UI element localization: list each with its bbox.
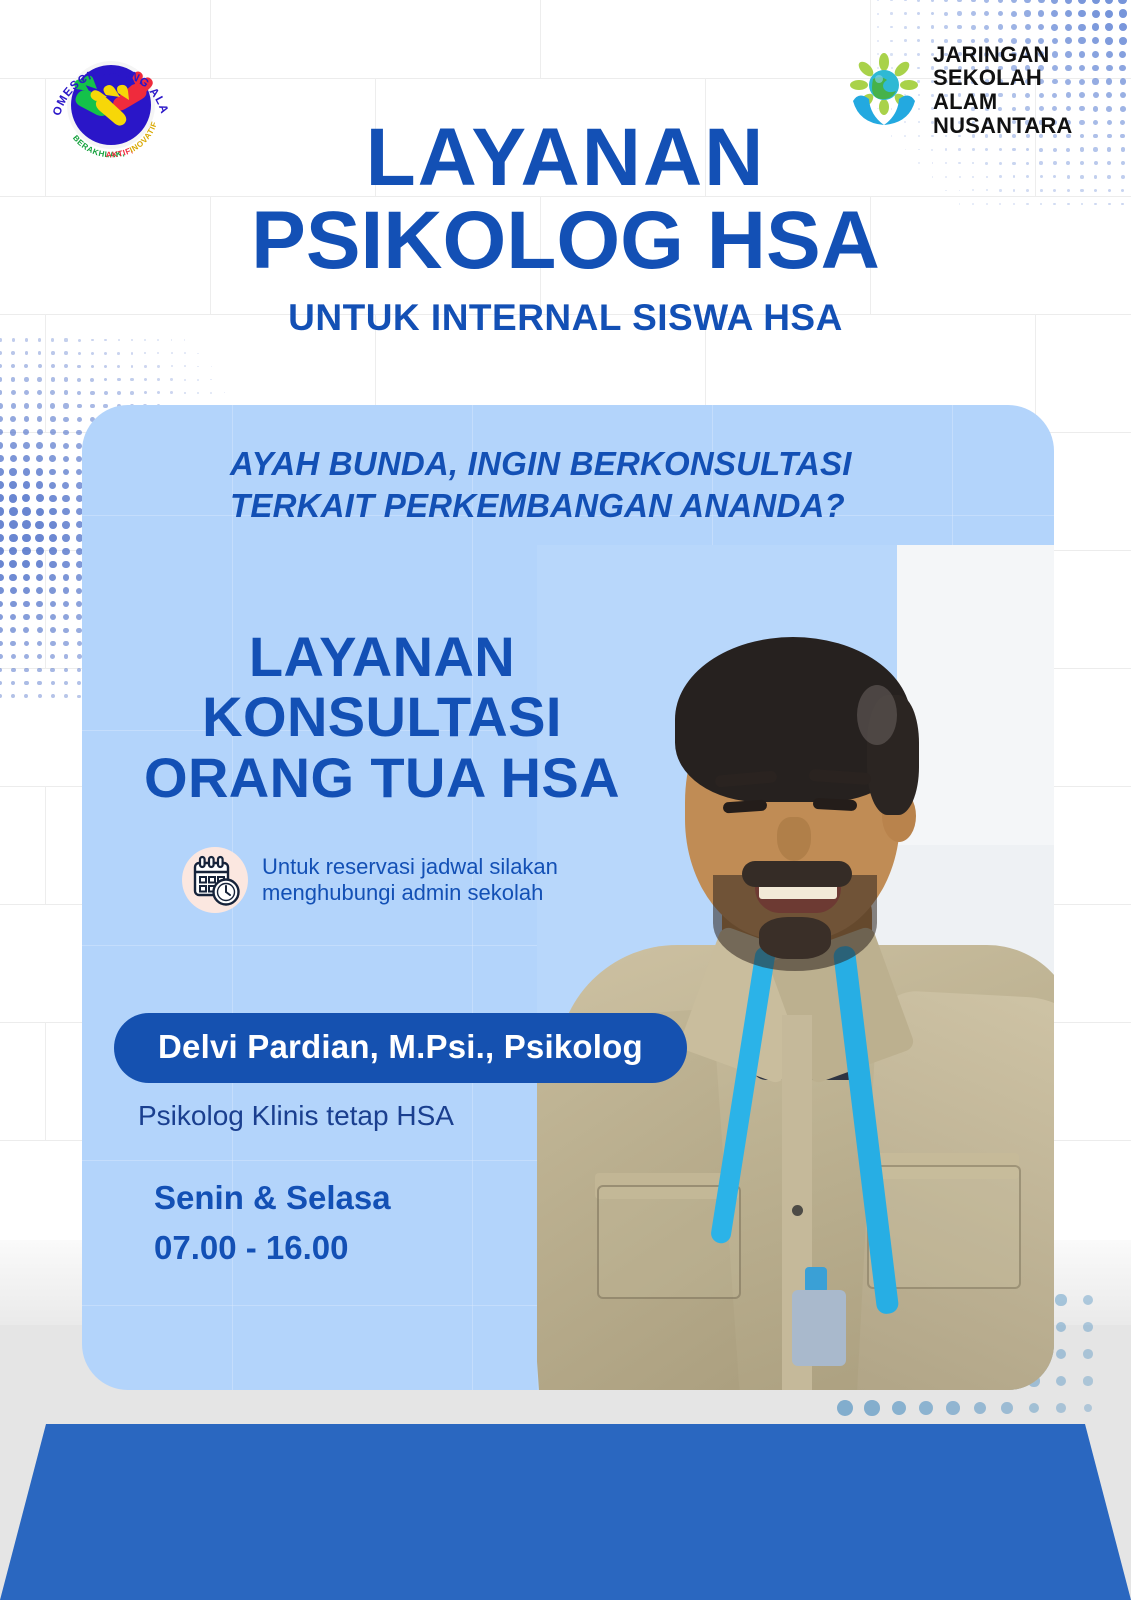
photo-nose [777, 817, 811, 861]
reservation-note-text: Untuk reservasi jadwal silakan menghubun… [262, 854, 558, 907]
photo-mouth [755, 883, 841, 913]
service-heading: LAYANAN KONSULTASI ORANG TUA HSA [102, 627, 662, 808]
service-line-3: ORANG TUA HSA [102, 748, 662, 808]
psychologist-name-badge: Delvi Pardian, M.Psi., Psikolog [114, 1013, 687, 1083]
title-line-2: PSIKOLOG HSA [0, 198, 1131, 285]
jsan-line-2: SEKOLAH ALAM [933, 66, 1090, 114]
question-line-2: TERKAIT PERKEMBANGAN ANANDA? [230, 485, 930, 527]
question-line-1: AYAH BUNDA, INGIN BERKONSULTASI [230, 443, 930, 485]
photo-moustache [742, 861, 852, 887]
schedule-days: Senin & Selasa [154, 1173, 391, 1223]
service-line-2: KONSULTASI [102, 687, 662, 747]
footer-content: Informasi Pendaftaran : 0812-9148-5332/0… [0, 1424, 1131, 1600]
photo-button-1 [792, 1205, 803, 1216]
poster-header: LAYANAN PSIKOLOG HSA UNTUK INTERNAL SISW… [0, 118, 1131, 339]
schedule-hours: 07.00 - 16.00 [154, 1223, 391, 1273]
note-line-2: menghubungi admin sekolah [262, 880, 558, 906]
photo-eye-right [813, 798, 858, 811]
note-line-1: Untuk reservasi jadwal silakan [262, 854, 558, 880]
photo-hair-gray [857, 685, 897, 745]
calendar-clock-icon [182, 847, 248, 913]
service-line-1: LAYANAN [102, 627, 662, 687]
question-text: AYAH BUNDA, INGIN BERKONSULTASI TERKAIT … [230, 443, 930, 526]
jsan-line-1: JARINGAN [933, 43, 1090, 67]
photo-id-card [792, 1290, 846, 1366]
title-line-1: LAYANAN [0, 118, 1131, 198]
reservation-note: Untuk reservasi jadwal silakan menghubun… [182, 847, 642, 913]
subtitle: UNTUK INTERNAL SISWA HSA [0, 297, 1131, 339]
main-card: AYAH BUNDA, INGIN BERKONSULTASI TERKAIT … [82, 405, 1054, 1390]
schedule-block: Senin & Selasa 07.00 - 16.00 [154, 1173, 391, 1272]
poster-root: HOMESCHOOLING ALAM BERAKHLAK, AKTIF, INO… [0, 0, 1131, 1600]
psychologist-role: Psikolog Klinis tetap HSA [138, 1100, 454, 1132]
photo-chin-beard [759, 917, 831, 959]
